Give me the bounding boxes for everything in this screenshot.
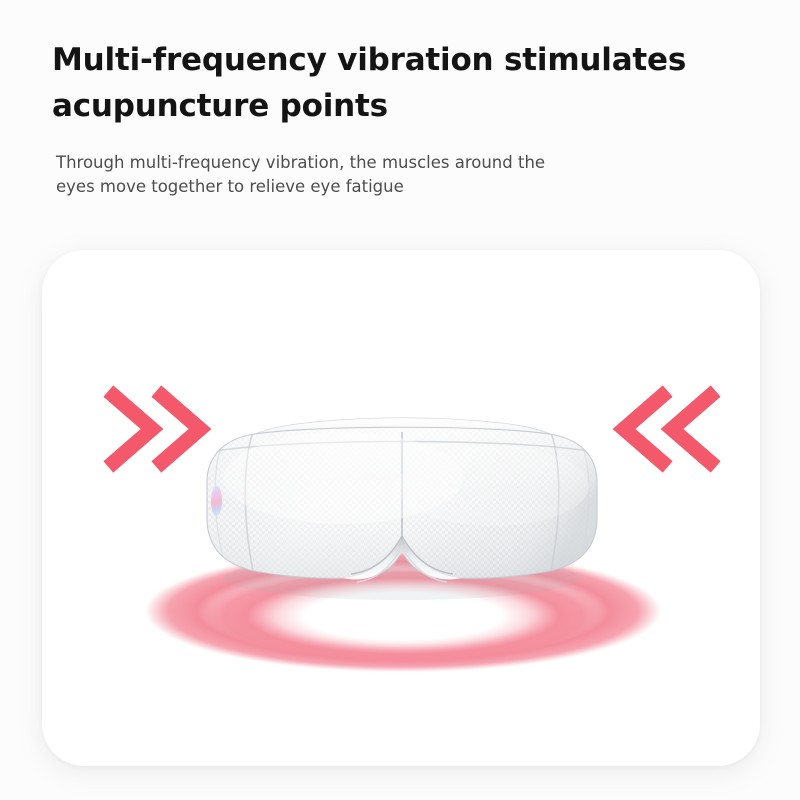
page-title: Multi-frequency vibration stimulates acu… bbox=[52, 38, 692, 129]
double-chevron-right-icon bbox=[114, 396, 152, 462]
vibration-indicator-right bbox=[612, 383, 722, 475]
eye-massager-device bbox=[193, 408, 611, 618]
product-illustration-card bbox=[42, 250, 760, 766]
illustration-stage bbox=[42, 250, 760, 766]
header: Multi-frequency vibration stimulates acu… bbox=[52, 38, 692, 198]
page-subtitle: Through multi-frequency vibration, the m… bbox=[56, 151, 616, 198]
double-chevron-left-icon bbox=[624, 396, 662, 462]
iridescent-logo-badge bbox=[211, 486, 222, 516]
